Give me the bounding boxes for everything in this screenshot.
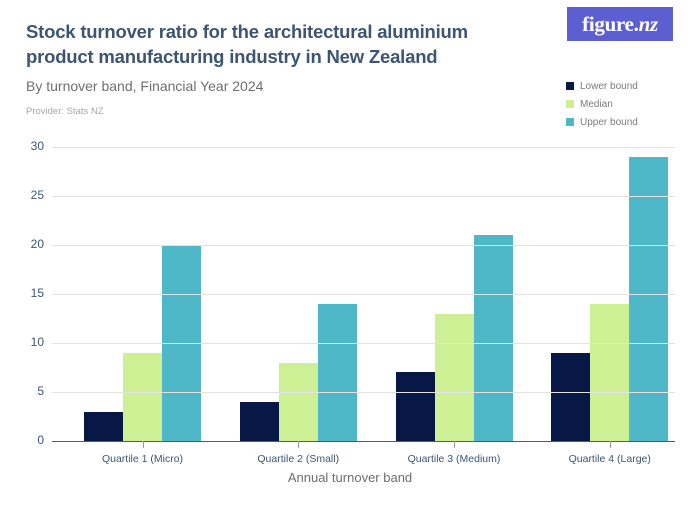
bar[interactable] xyxy=(474,235,513,441)
legend-swatch-icon xyxy=(566,118,574,126)
y-axis-tick-label: 30 xyxy=(2,139,44,153)
x-axis-line xyxy=(52,441,675,442)
x-axis-tick xyxy=(610,441,611,448)
gridline xyxy=(52,294,675,295)
chart-subtitle: By turnover band, Financial Year 2024 xyxy=(26,78,263,94)
bar[interactable] xyxy=(435,314,474,441)
page-title: Stock turnover ratio for the architectur… xyxy=(26,19,526,69)
legend-item[interactable]: Lower bound xyxy=(566,78,638,94)
y-axis-tick-label: 15 xyxy=(2,286,44,300)
y-axis-tick-label: 5 xyxy=(2,384,44,398)
x-axis-tick-label: Quartile 4 (Large) xyxy=(520,453,700,465)
y-axis-tick-label: 0 xyxy=(2,433,44,447)
legend-swatch-icon xyxy=(566,100,574,108)
legend-item[interactable]: Upper bound xyxy=(566,114,638,130)
x-axis-title: Annual turnover band xyxy=(0,470,700,485)
y-axis-tick-label: 10 xyxy=(2,335,44,349)
chart-legend: Lower boundMedianUpper bound xyxy=(566,78,638,132)
logo-text-accent: nz xyxy=(639,12,658,36)
provider-label: Provider: Stats NZ xyxy=(26,106,104,117)
gridline xyxy=(52,196,675,197)
bar[interactable] xyxy=(240,402,279,441)
legend-swatch-icon xyxy=(566,82,574,90)
plot-area: 051015202530Quartile 1 (Micro)Quartile 2… xyxy=(52,147,675,441)
x-axis-tick-label: Quartile 1 (Micro) xyxy=(53,453,233,465)
x-axis-tick xyxy=(143,441,144,448)
logo-text-main: figure. xyxy=(582,12,638,36)
x-axis-tick-label: Quartile 3 (Medium) xyxy=(364,453,544,465)
gridline xyxy=(52,392,675,393)
y-axis-tick-label: 25 xyxy=(2,188,44,202)
legend-label: Median xyxy=(580,99,613,110)
x-axis-tick-label: Quartile 2 (Small) xyxy=(208,453,388,465)
legend-label: Upper bound xyxy=(580,117,638,128)
gridline xyxy=(52,343,675,344)
bar[interactable] xyxy=(318,304,357,441)
x-axis-tick xyxy=(298,441,299,448)
bar[interactable] xyxy=(629,157,668,441)
logo-text: figure.nz xyxy=(582,14,658,35)
bar[interactable] xyxy=(590,304,629,441)
bar[interactable] xyxy=(123,353,162,441)
bar[interactable] xyxy=(551,353,590,441)
bar[interactable] xyxy=(396,372,435,441)
legend-item[interactable]: Median xyxy=(566,96,638,112)
gridline xyxy=(52,245,675,246)
figurenz-logo[interactable]: figure.nz xyxy=(567,7,673,41)
gridline xyxy=(52,147,675,148)
y-axis-tick-label: 20 xyxy=(2,237,44,251)
bar[interactable] xyxy=(84,412,123,441)
bar[interactable] xyxy=(279,363,318,441)
legend-label: Lower bound xyxy=(580,81,638,92)
chart-page: Stock turnover ratio for the architectur… xyxy=(0,0,700,525)
x-axis-tick xyxy=(454,441,455,448)
